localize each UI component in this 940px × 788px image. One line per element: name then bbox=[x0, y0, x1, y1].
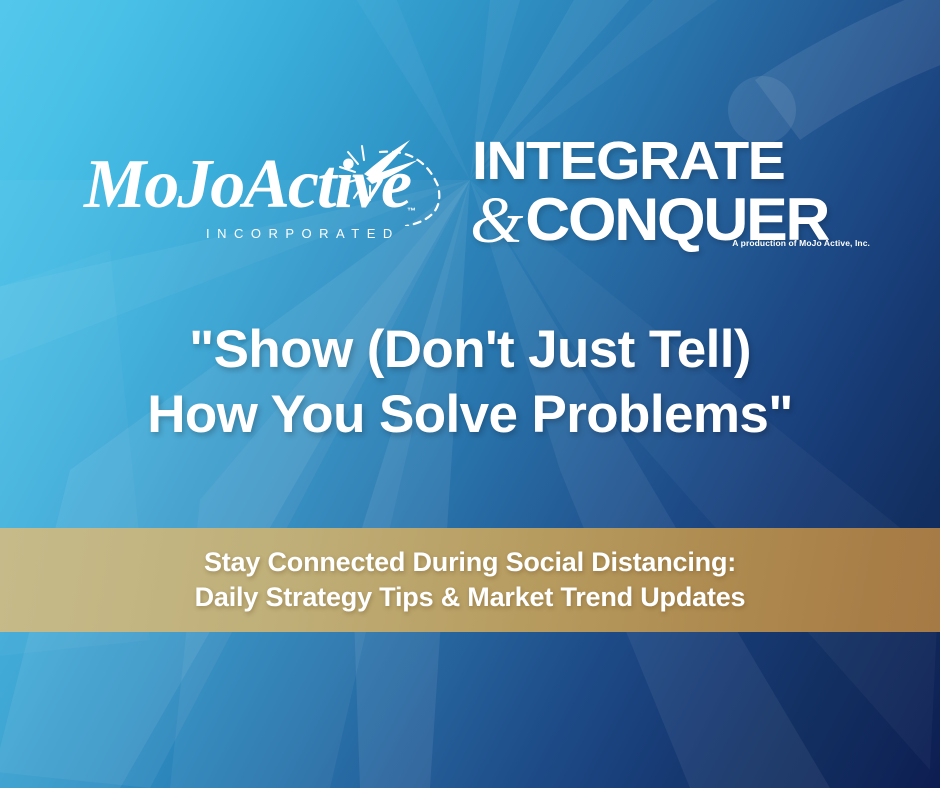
integrate-text: INTEGRATE bbox=[472, 134, 784, 188]
mojoactive-logo: MoJoActive ™ INCORPORATED bbox=[78, 134, 438, 264]
sparkle-icon bbox=[318, 134, 448, 226]
subtitle-banner: Stay Connected During Social Distancing:… bbox=[0, 528, 940, 632]
slide-headline: "Show (Don't Just Tell) How You Solve Pr… bbox=[0, 318, 940, 447]
banner-line-2: Daily Strategy Tips & Market Trend Updat… bbox=[195, 580, 746, 615]
production-credit: A production of MoJo Active, Inc. bbox=[732, 238, 870, 248]
presentation-slide: MoJoActive ™ INCORPORATED INTEGRATE bbox=[0, 0, 940, 788]
headline-line-2: How You Solve Problems" bbox=[0, 383, 940, 448]
integrate-and-conquer-logo: INTEGRATE & CONQUER A production of MoJo… bbox=[470, 128, 870, 268]
headline-line-1: "Show (Don't Just Tell) bbox=[0, 318, 940, 383]
ampersand-glyph: & bbox=[470, 188, 521, 254]
mojoactive-subtitle: INCORPORATED bbox=[206, 226, 400, 241]
logo-row: MoJoActive ™ INCORPORATED INTEGRATE bbox=[0, 128, 940, 273]
banner-line-1: Stay Connected During Social Distancing: bbox=[204, 545, 736, 580]
